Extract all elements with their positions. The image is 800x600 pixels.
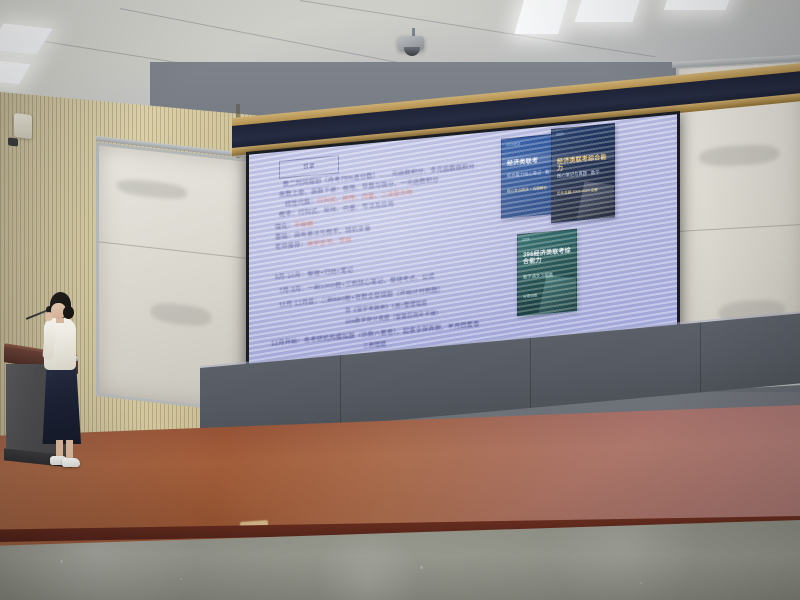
whiteboard-seam <box>99 241 247 259</box>
slide-line: 9月-10月：整理+归纳+笔记 <box>275 267 353 282</box>
book-photo <box>538 275 577 316</box>
lecture-hall-scene: 目录 数二时间规划（月考75%总分数）……元函数积分、多元函数微积分 高数上册、… <box>0 0 800 600</box>
slide-title: 目录 <box>280 156 338 177</box>
slide-line: 强化：不做题 <box>275 221 313 232</box>
panel-seam <box>340 355 341 425</box>
ceiling-light <box>0 23 53 54</box>
ceiling-light <box>664 0 735 10</box>
slide-line-label: 强化： <box>275 222 294 231</box>
slide-line-highlight: 不做题 <box>294 221 313 230</box>
presenter-skirt <box>41 364 81 444</box>
wall-speaker <box>14 113 32 139</box>
presenter-hair-bun <box>63 306 74 319</box>
slide-line-highlight: 张宇全书、李林 <box>307 237 352 248</box>
whiteboard-smudge <box>151 301 211 328</box>
book-top-label: 2025 <box>522 237 530 242</box>
book-cover: 2025 396经济类联考综合能力 数学通关习题集 分章训练 <box>517 229 577 317</box>
floor-speck <box>420 566 423 569</box>
whiteboard-seam <box>679 224 800 232</box>
presenter-hand <box>45 312 53 321</box>
floor-speck <box>60 560 63 563</box>
floor-speck <box>640 582 642 584</box>
book-subtitle: 综合能力核心笔记 · 数学 <box>507 169 554 179</box>
whiteboard-smudge <box>117 177 187 201</box>
panel-seam <box>700 322 701 392</box>
panel-seam <box>530 338 531 408</box>
floor-speck <box>180 578 182 580</box>
whiteboard-smudge <box>699 143 779 167</box>
ceiling-light <box>514 0 569 34</box>
book-top-label: 2025 <box>556 132 564 137</box>
ceiling-light <box>574 0 643 22</box>
slide-line-label: 线性代数： <box>285 198 317 208</box>
book-tag: 分章训练 <box>523 293 537 299</box>
ceiling-light <box>0 60 31 84</box>
presenter-leg <box>66 440 73 460</box>
presenter-shoe <box>62 458 80 467</box>
book-tag: 核心考点精讲 + 真题解析 <box>507 186 547 195</box>
slide-title-box: 目录 <box>279 155 339 179</box>
book-title: 396经济类联考综合能力 <box>523 248 572 266</box>
wall-camera <box>8 137 18 146</box>
slide-line-label: 老师推荐： <box>275 241 307 251</box>
book-top-label: 2025考研 <box>506 141 520 147</box>
book-cover: 2025 经济类联考综合能力 核心笔记与真题 · 数学 历年真题 2009-20… <box>551 123 615 223</box>
